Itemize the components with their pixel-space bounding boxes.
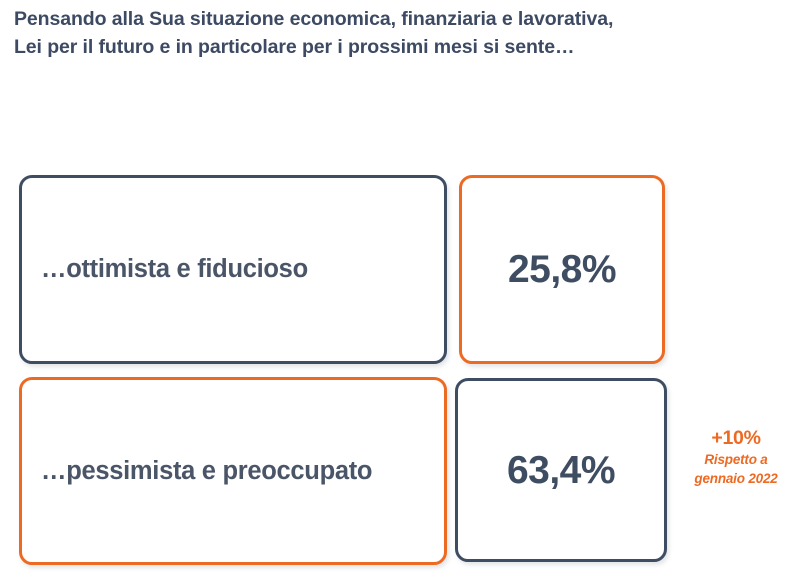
delta-annotation: +10% Rispetto a gennaio 2022 bbox=[676, 426, 796, 488]
slide-canvas: Pensando alla Sua situazione economica, … bbox=[0, 0, 800, 580]
page-title-line-1: Pensando alla Sua situazione economica, … bbox=[14, 5, 794, 33]
page-title-line-2: Lei per il futuro e in particolare per i… bbox=[14, 33, 794, 61]
answer-value-optimist: 25,8% bbox=[508, 250, 616, 289]
answer-label-card-optimist: …ottimista e fiducioso bbox=[19, 175, 447, 364]
answer-label-pessimist: …pessimista e preoccupato bbox=[22, 457, 372, 486]
answer-label-optimist: …ottimista e fiducioso bbox=[22, 255, 308, 284]
delta-note-line-1: Rispetto a bbox=[676, 450, 796, 469]
answer-value-card-optimist: 25,8% bbox=[459, 175, 665, 364]
answer-label-card-pessimist: …pessimista e preoccupato bbox=[19, 377, 447, 565]
delta-value: +10% bbox=[676, 426, 796, 450]
delta-note-line-2: gennaio 2022 bbox=[676, 469, 796, 488]
answer-value-card-pessimist: 63,4% bbox=[455, 378, 667, 562]
page-title: Pensando alla Sua situazione economica, … bbox=[14, 5, 794, 61]
answer-value-pessimist: 63,4% bbox=[507, 451, 615, 490]
